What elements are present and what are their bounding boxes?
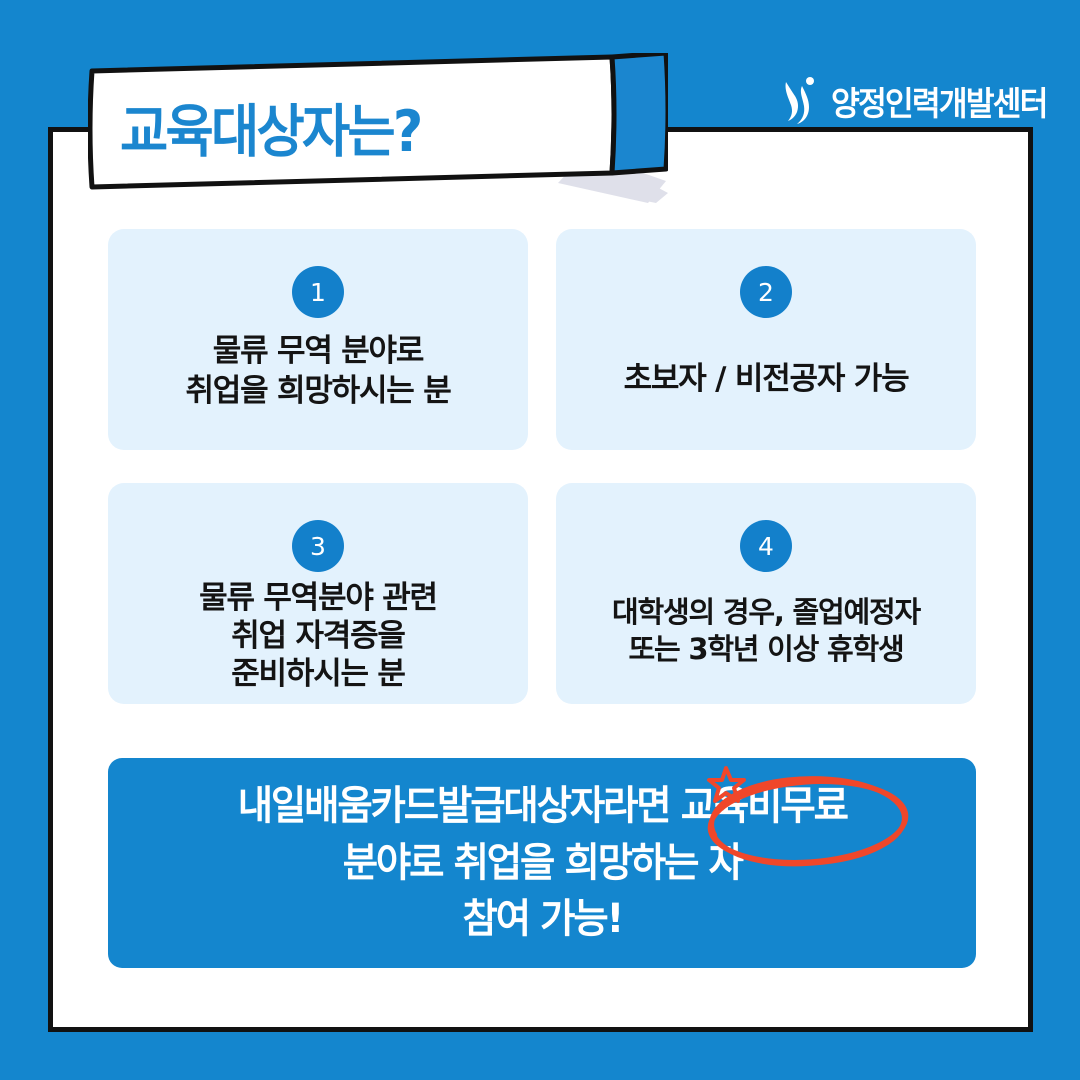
highlight-banner: 내일배움카드발급대상자라면 교육비무료 분야로 취업을 희망하는 자 참여 가능… xyxy=(108,758,976,968)
card-text: 대학생의 경우, 졸업예정자 또는 3학년 이상 휴학생 xyxy=(602,594,930,668)
card-number-badge: 4 xyxy=(740,520,792,572)
eligibility-card-grid: 1 물류 무역 분야로 취업을 희망하시는 분 2 초보자 / 비전공자 가능 … xyxy=(108,229,976,704)
header-ribbon: 교육대상자는? xyxy=(88,53,668,203)
page-title: 교육대상자는? xyxy=(120,81,580,173)
banner-text: 내일배움카드발급대상자라면 교육비무료 분야로 취업을 희망하는 자 참여 가능… xyxy=(237,778,846,948)
card-text: 물류 무역 분야로 취업을 희망하시는 분 xyxy=(175,332,460,411)
eligibility-card-3: 3 물류 무역분야 관련 취업 자격증을 준비하시는 분 xyxy=(108,483,528,704)
card-text: 물류 무역분야 관련 취업 자격증을 준비하시는 분 xyxy=(189,580,447,693)
card-number-badge: 1 xyxy=(292,266,344,318)
brand-name: 양정인력개발센터 xyxy=(831,77,1047,125)
card-number-badge: 3 xyxy=(292,520,344,572)
eligibility-card-1: 1 물류 무역 분야로 취업을 희망하시는 분 xyxy=(108,229,528,450)
brand-logo: 양정인력개발센터 xyxy=(782,76,1058,126)
eligibility-card-4: 4 대학생의 경우, 졸업예정자 또는 3학년 이상 휴학생 xyxy=(556,483,976,704)
yj-flame-logo-icon xyxy=(782,76,824,126)
card-text: 초보자 / 비전공자 가능 xyxy=(614,360,919,400)
eligibility-card-2: 2 초보자 / 비전공자 가능 xyxy=(556,229,976,450)
card-number-badge: 2 xyxy=(740,266,792,318)
